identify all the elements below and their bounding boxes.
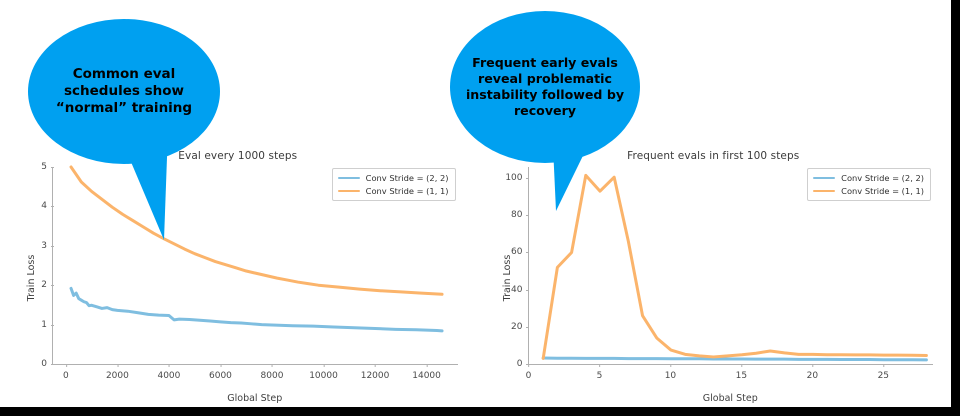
chart-xlabel-right: Global Step — [528, 393, 934, 404]
x-axis-tick: 6000 — [209, 364, 232, 381]
x-axis-tick: 4000 — [157, 364, 180, 381]
y-axis-tick: 5 — [41, 162, 53, 172]
chart-xlabel-left: Global Step — [52, 393, 458, 404]
legend-label-stride-1-1: Conv Stride = (1, 1) — [366, 186, 449, 196]
x-axis-tick: 20 — [807, 364, 818, 381]
y-axis-tick: 100 — [505, 173, 528, 183]
x-axis-tick: 0 — [526, 364, 532, 381]
x-axis-tick: 10 — [665, 364, 676, 381]
y-axis-tick: 80 — [511, 210, 528, 220]
y-axis-tick: 20 — [511, 322, 528, 332]
legend-swatch-stride-2-2 — [813, 177, 835, 179]
y-axis-tick: 4 — [41, 201, 53, 211]
x-axis-tick: 14000 — [412, 364, 441, 381]
chart-ylabel-left: Train Loss — [26, 254, 37, 301]
series-line — [543, 358, 926, 360]
y-axis-tick: 0 — [41, 359, 53, 369]
legend-label-stride-2-2: Conv Stride = (2, 2) — [841, 173, 924, 183]
legend-label-stride-2-2: Conv Stride = (2, 2) — [366, 173, 449, 183]
legend-swatch-stride-2-2 — [338, 177, 360, 179]
y-axis-tick: 40 — [511, 285, 528, 295]
right-callout-text: Frequent early evals reveal problematic … — [450, 55, 640, 118]
x-axis-tick: 15 — [736, 364, 747, 381]
x-axis-tick: 8000 — [261, 364, 284, 381]
y-axis-tick: 3 — [41, 241, 53, 251]
y-axis-tick: 60 — [511, 247, 528, 257]
legend-label-stride-1-1: Conv Stride = (1, 1) — [841, 186, 924, 196]
x-axis-tick: 25 — [878, 364, 889, 381]
y-axis-tick: 2 — [41, 280, 53, 290]
legend-swatch-stride-1-1 — [813, 190, 835, 192]
left-callout-bubble: Common eval schedules show “normal” trai… — [28, 19, 220, 164]
x-axis-tick: 5 — [597, 364, 603, 381]
chart-panel-left: Eval every 1000 steps Train Loss 0123450… — [0, 148, 476, 407]
series-line — [71, 288, 442, 331]
x-axis-tick: 0 — [63, 364, 69, 381]
legend-item: Conv Stride = (1, 1) — [338, 186, 449, 196]
legend-item: Conv Stride = (1, 1) — [813, 186, 924, 196]
x-axis-tick: 12000 — [361, 364, 390, 381]
right-callout-bubble: Frequent early evals reveal problematic … — [450, 11, 640, 163]
legend-swatch-stride-1-1 — [338, 190, 360, 192]
legend-item: Conv Stride = (2, 2) — [813, 173, 924, 183]
legend-item: Conv Stride = (2, 2) — [338, 173, 449, 183]
y-axis-tick: 1 — [41, 320, 53, 330]
x-axis-tick: 2000 — [106, 364, 129, 381]
legend-left: Conv Stride = (2, 2) Conv Stride = (1, 1… — [332, 168, 456, 201]
figure-root: Common eval schedules show “normal” trai… — [0, 0, 960, 416]
left-callout-text: Common eval schedules show “normal” trai… — [28, 66, 220, 117]
x-axis-tick: 10000 — [309, 364, 338, 381]
legend-right: Conv Stride = (2, 2) Conv Stride = (1, 1… — [807, 168, 931, 201]
